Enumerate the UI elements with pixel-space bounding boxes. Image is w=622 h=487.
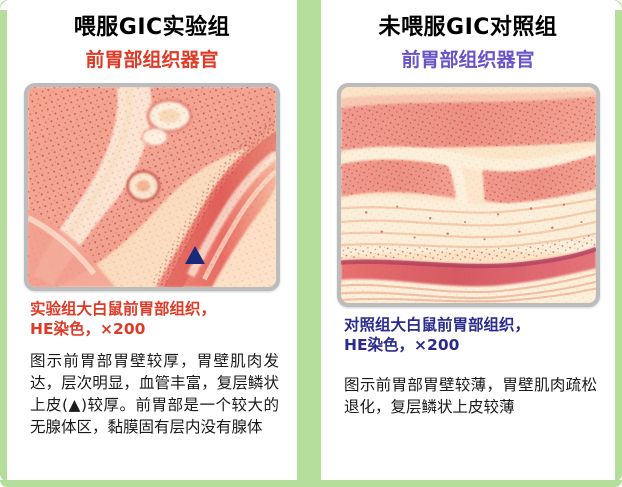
panel-subtitle-right: 前胃部组织器官 bbox=[337, 48, 599, 73]
panel-title-left: 喂服GIC实验组 bbox=[23, 0, 281, 42]
micrograph-right bbox=[341, 87, 596, 303]
frame-border-right bbox=[615, 0, 622, 481]
comparison-figure: 喂服GIC实验组 前胃部组织器官 bbox=[0, 0, 622, 487]
panel-control-group: 未喂服GIC对照组 前胃部组织器官 bbox=[321, 0, 615, 481]
panel-subtitle-left: 前胃部组织器官 bbox=[23, 48, 281, 73]
panel-body-right: 图示前胃部胃壁较薄，胃壁肌肉疏松退化，复层鳞状上皮较薄 bbox=[337, 374, 599, 418]
panel-experimental-group: 喂服GIC实验组 前胃部组织器官 bbox=[7, 0, 297, 481]
panel-divider bbox=[297, 0, 321, 482]
micrograph-frame-left bbox=[24, 83, 280, 291]
micrograph-caption-left: 实验组大白鼠前胃部组织， HE染色，×200 bbox=[23, 300, 281, 340]
micrograph-caption-right: 对照组大白鼠前胃部组织， HE染色，×200 bbox=[337, 316, 599, 356]
panel-body-left: 图示前胃部胃壁较厚，胃壁肌肉发达，层次明显，血管丰富，复层鳞状上皮(▲)较厚。前… bbox=[23, 350, 281, 438]
arrowhead-marker-icon bbox=[184, 245, 206, 265]
micrograph-left bbox=[28, 87, 276, 287]
caption-line-2: HE染色，×200 bbox=[30, 320, 281, 340]
caption-line-2: HE染色，×200 bbox=[344, 336, 599, 356]
micrograph-frame-right bbox=[337, 83, 600, 307]
caption-line-1: 实验组大白鼠前胃部组织， bbox=[30, 300, 281, 320]
frame-border-left bbox=[0, 0, 7, 481]
panel-title-right: 未喂服GIC对照组 bbox=[337, 0, 599, 42]
caption-line-1: 对照组大白鼠前胃部组织， bbox=[344, 316, 599, 336]
